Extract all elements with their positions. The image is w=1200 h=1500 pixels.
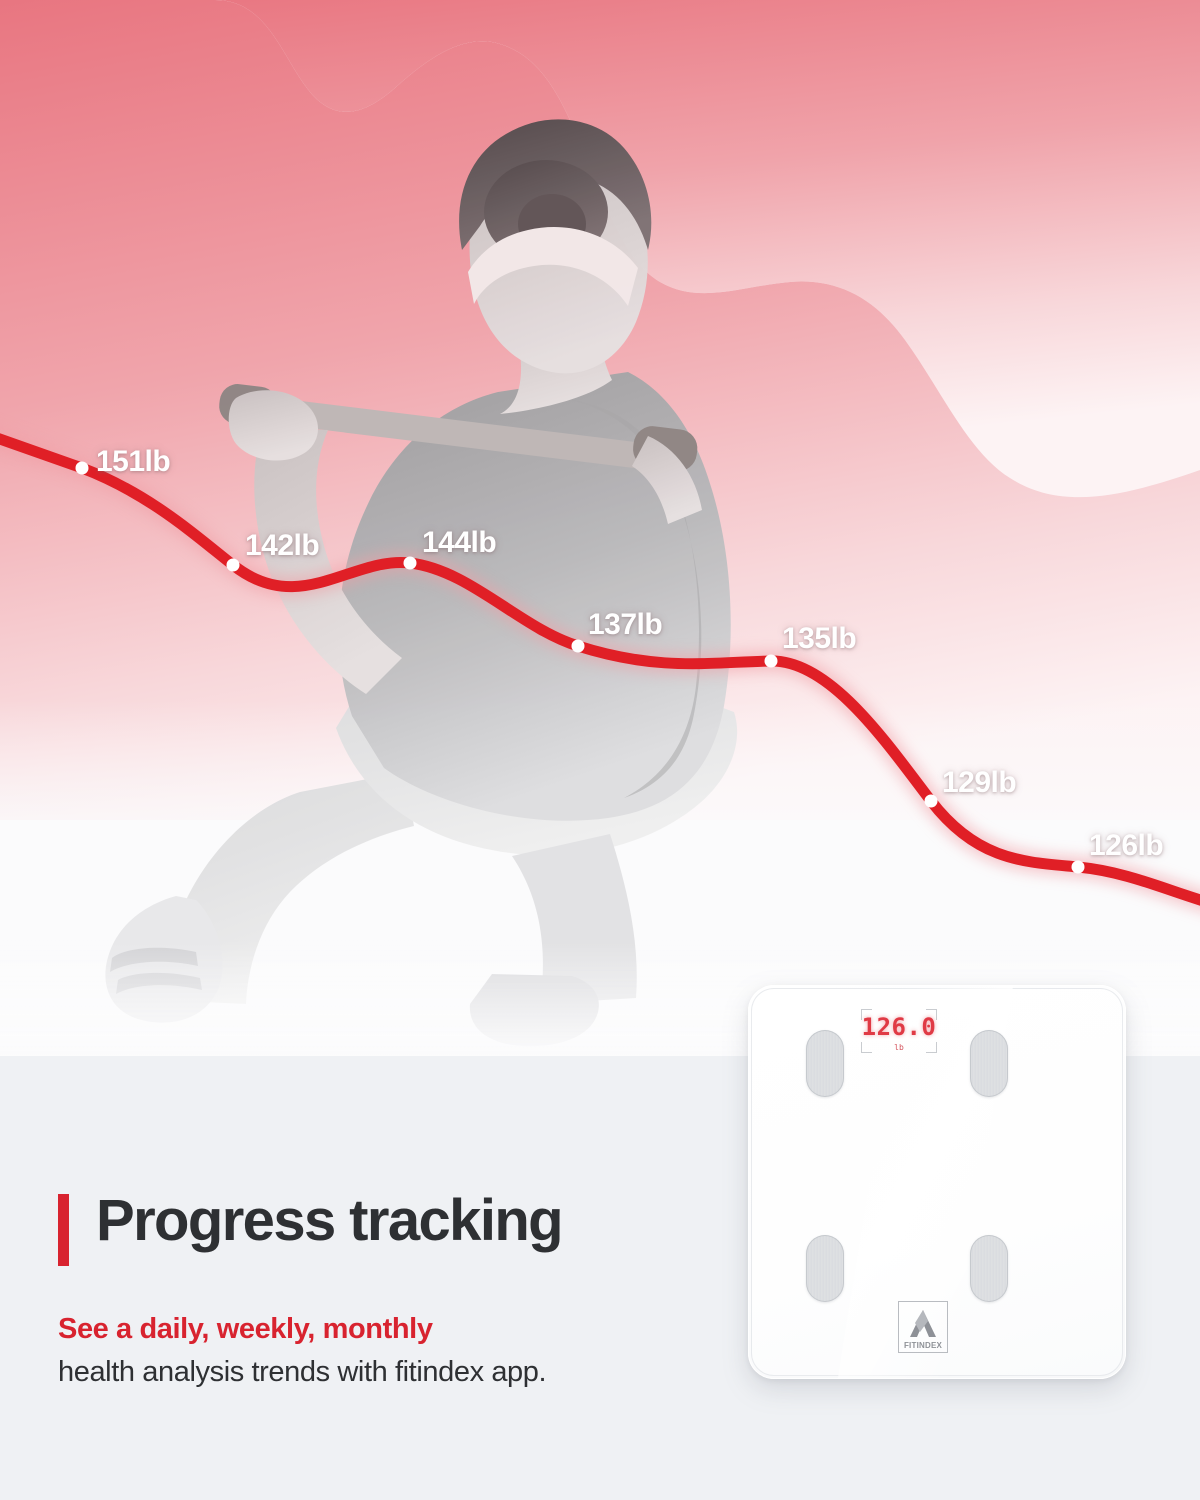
data-point-dot <box>227 559 240 572</box>
electrode-top-left <box>806 1030 844 1097</box>
data-point-label: 144lb <box>422 526 496 560</box>
data-point-dot <box>572 640 585 653</box>
fitindex-logo: FITINDEX <box>898 1301 948 1353</box>
page-title: Progress tracking <box>96 1192 562 1250</box>
accent-bar <box>58 1194 69 1266</box>
subtitle-line-1: See a daily, weekly, monthly <box>58 1310 738 1349</box>
scale-body: 126.0 lb FITINDEX <box>748 985 1126 1379</box>
led-display: 126.0 lb <box>861 1009 937 1053</box>
promo-page: 151lb142lb144lb137lb135lb129lb126lb Prog… <box>0 0 1200 1500</box>
data-point-dot <box>1072 861 1085 874</box>
weight-trend-chart <box>0 0 1200 1056</box>
display-weight-unit: lb <box>861 1043 937 1052</box>
data-point-label: 142lb <box>245 529 319 563</box>
subtitle-line-2: health analysis trends with fitindex app… <box>58 1353 738 1392</box>
smart-scale-device: 126.0 lb FITINDEX <box>748 985 1126 1379</box>
copy-block: Progress tracking See a daily, weekly, m… <box>58 1192 738 1392</box>
electrode-bottom-right <box>970 1235 1008 1302</box>
data-point-dot <box>765 655 778 668</box>
logo-wordmark: FITINDEX <box>898 1341 948 1350</box>
data-point-label: 135lb <box>782 622 856 656</box>
data-point-dot <box>76 462 89 475</box>
electrode-top-right <box>970 1030 1008 1097</box>
data-point-label: 126lb <box>1089 829 1163 863</box>
data-point-dot <box>404 557 417 570</box>
data-point-label: 129lb <box>942 766 1016 800</box>
hero-section: 151lb142lb144lb137lb135lb129lb126lb <box>0 0 1200 1056</box>
electrode-bottom-left <box>806 1235 844 1302</box>
data-point-label: 151lb <box>96 445 170 479</box>
data-point-dot <box>925 795 938 808</box>
data-point-label: 137lb <box>588 608 662 642</box>
title-row: Progress tracking <box>58 1192 738 1266</box>
display-weight-value: 126.0 <box>861 1013 937 1041</box>
